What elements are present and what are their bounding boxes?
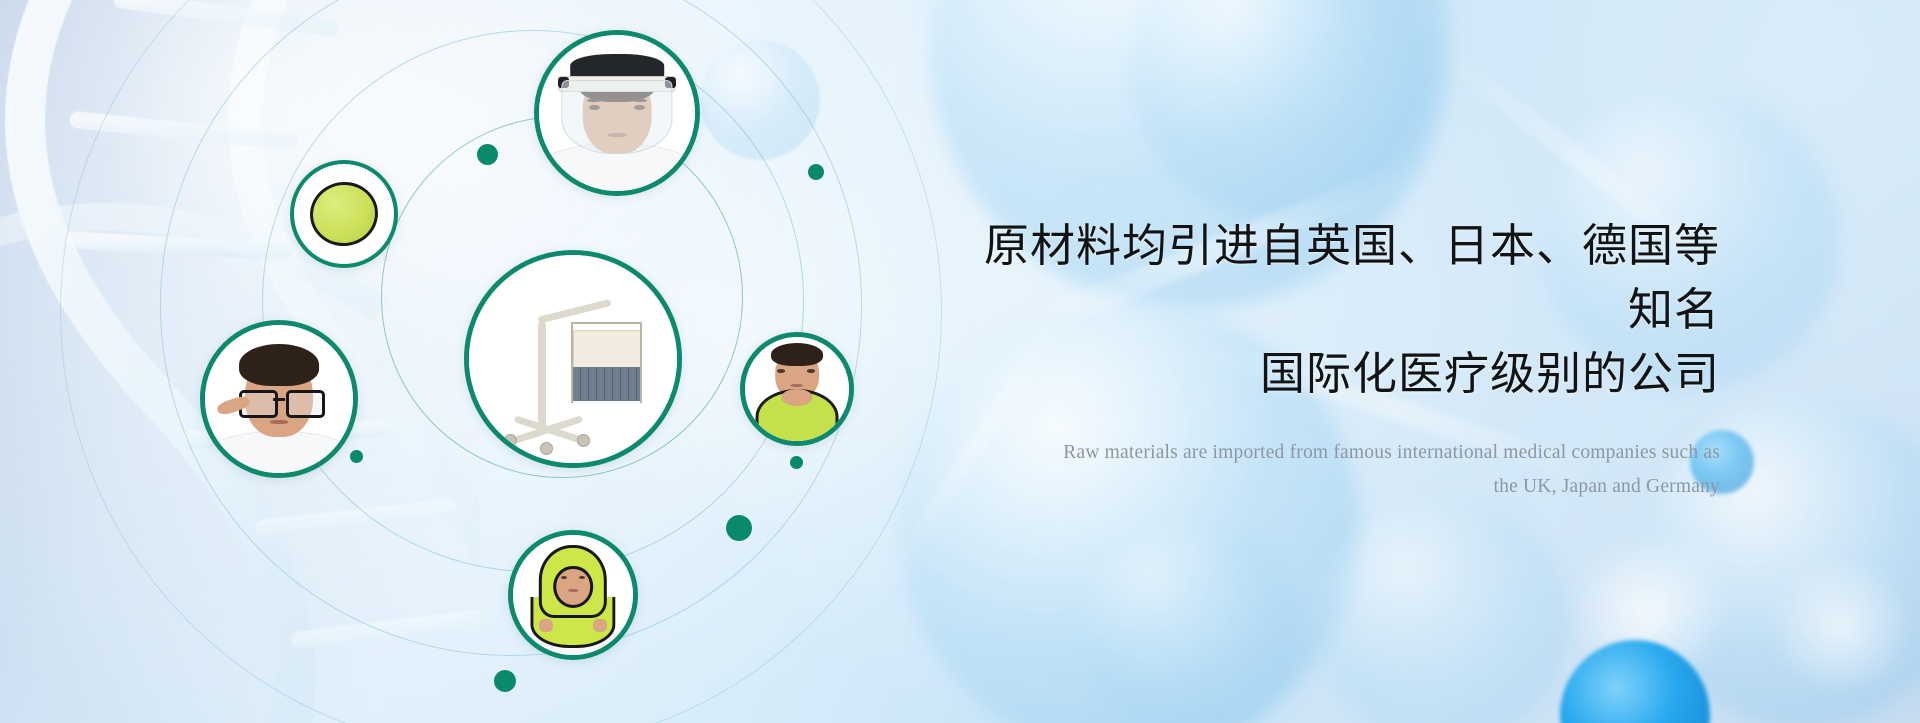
- bubble-mobile-radiation-shield[interactable]: [464, 250, 682, 468]
- thyroid-protection-collar-image: [745, 337, 849, 441]
- bubble-radiation-protection-hood[interactable]: [508, 530, 638, 660]
- accent-dot-2: [808, 164, 824, 180]
- lead-protective-cap-image: [294, 164, 394, 264]
- accent-dot-4: [790, 456, 803, 469]
- headline: 原材料均引进自英国、日本、德国等知名 国际化医疗级别的公司: [940, 214, 1720, 406]
- headline-line-1: 原材料均引进自英国、日本、德国等知名: [940, 214, 1720, 342]
- hero-banner: 原材料均引进自英国、日本、德国等知名 国际化医疗级别的公司 Raw materi…: [0, 0, 1920, 723]
- accent-dot-1: [477, 144, 498, 165]
- accent-dot-5: [726, 515, 752, 541]
- subheadline-line-1: Raw materials are imported from famous i…: [940, 436, 1720, 471]
- bubble-lead-protective-glasses[interactable]: [200, 320, 358, 478]
- radiation-protection-hood-image: [513, 535, 633, 655]
- mobile-radiation-shield-image: [469, 255, 677, 463]
- lead-protective-glasses-image: [205, 325, 353, 473]
- lead-face-shield-visor-image: [539, 35, 695, 191]
- subheadline: Raw materials are imported from famous i…: [940, 436, 1720, 505]
- hero-copy: 原材料均引进自英国、日本、德国等知名 国际化医疗级别的公司 Raw materi…: [940, 214, 1720, 505]
- bubble-lead-face-shield-visor[interactable]: [534, 30, 700, 196]
- bubble-lead-protective-cap[interactable]: [290, 160, 398, 268]
- accent-dot-6: [494, 670, 516, 692]
- subheadline-line-2: the UK, Japan and Germany: [940, 470, 1720, 505]
- headline-line-2: 国际化医疗级别的公司: [940, 342, 1720, 406]
- bubble-thyroid-protection-collar[interactable]: [740, 332, 854, 446]
